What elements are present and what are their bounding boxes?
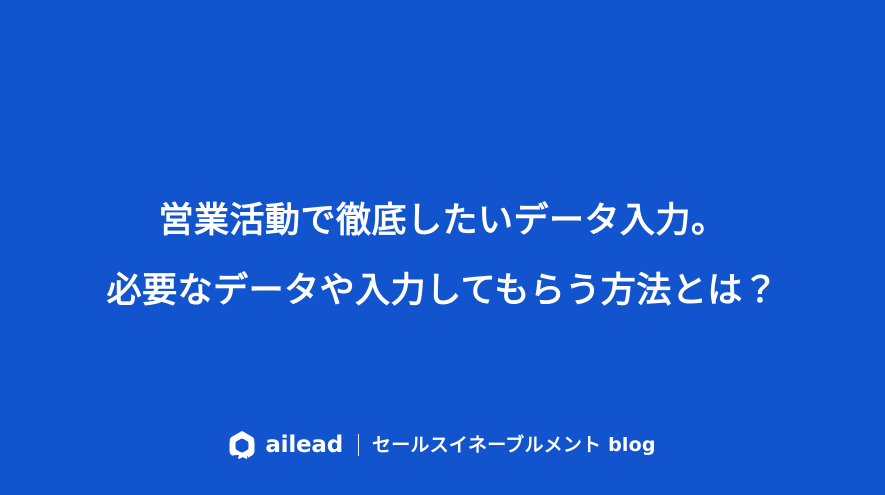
brand-lockup: ailead セールスイネーブルメント blog [0,428,885,462]
title-line-1: 営業活動で徹底したいデータ入力。 [0,186,885,256]
title-line-2: 必要なデータや入力してもらう方法とは？ [0,256,885,326]
page-title: 営業活動で徹底したいデータ入力。 必要なデータや入力してもらう方法とは？ [0,186,885,326]
ailead-wordmark: ailead [265,434,343,457]
brand-divider [358,434,359,456]
brand-tagline: セールスイネーブルメント blog [372,436,656,455]
ailead-hexagon-logo-icon [229,431,255,459]
blog-title-card: 営業活動で徹底したいデータ入力。 必要なデータや入力してもらう方法とは？ ail… [0,0,885,495]
